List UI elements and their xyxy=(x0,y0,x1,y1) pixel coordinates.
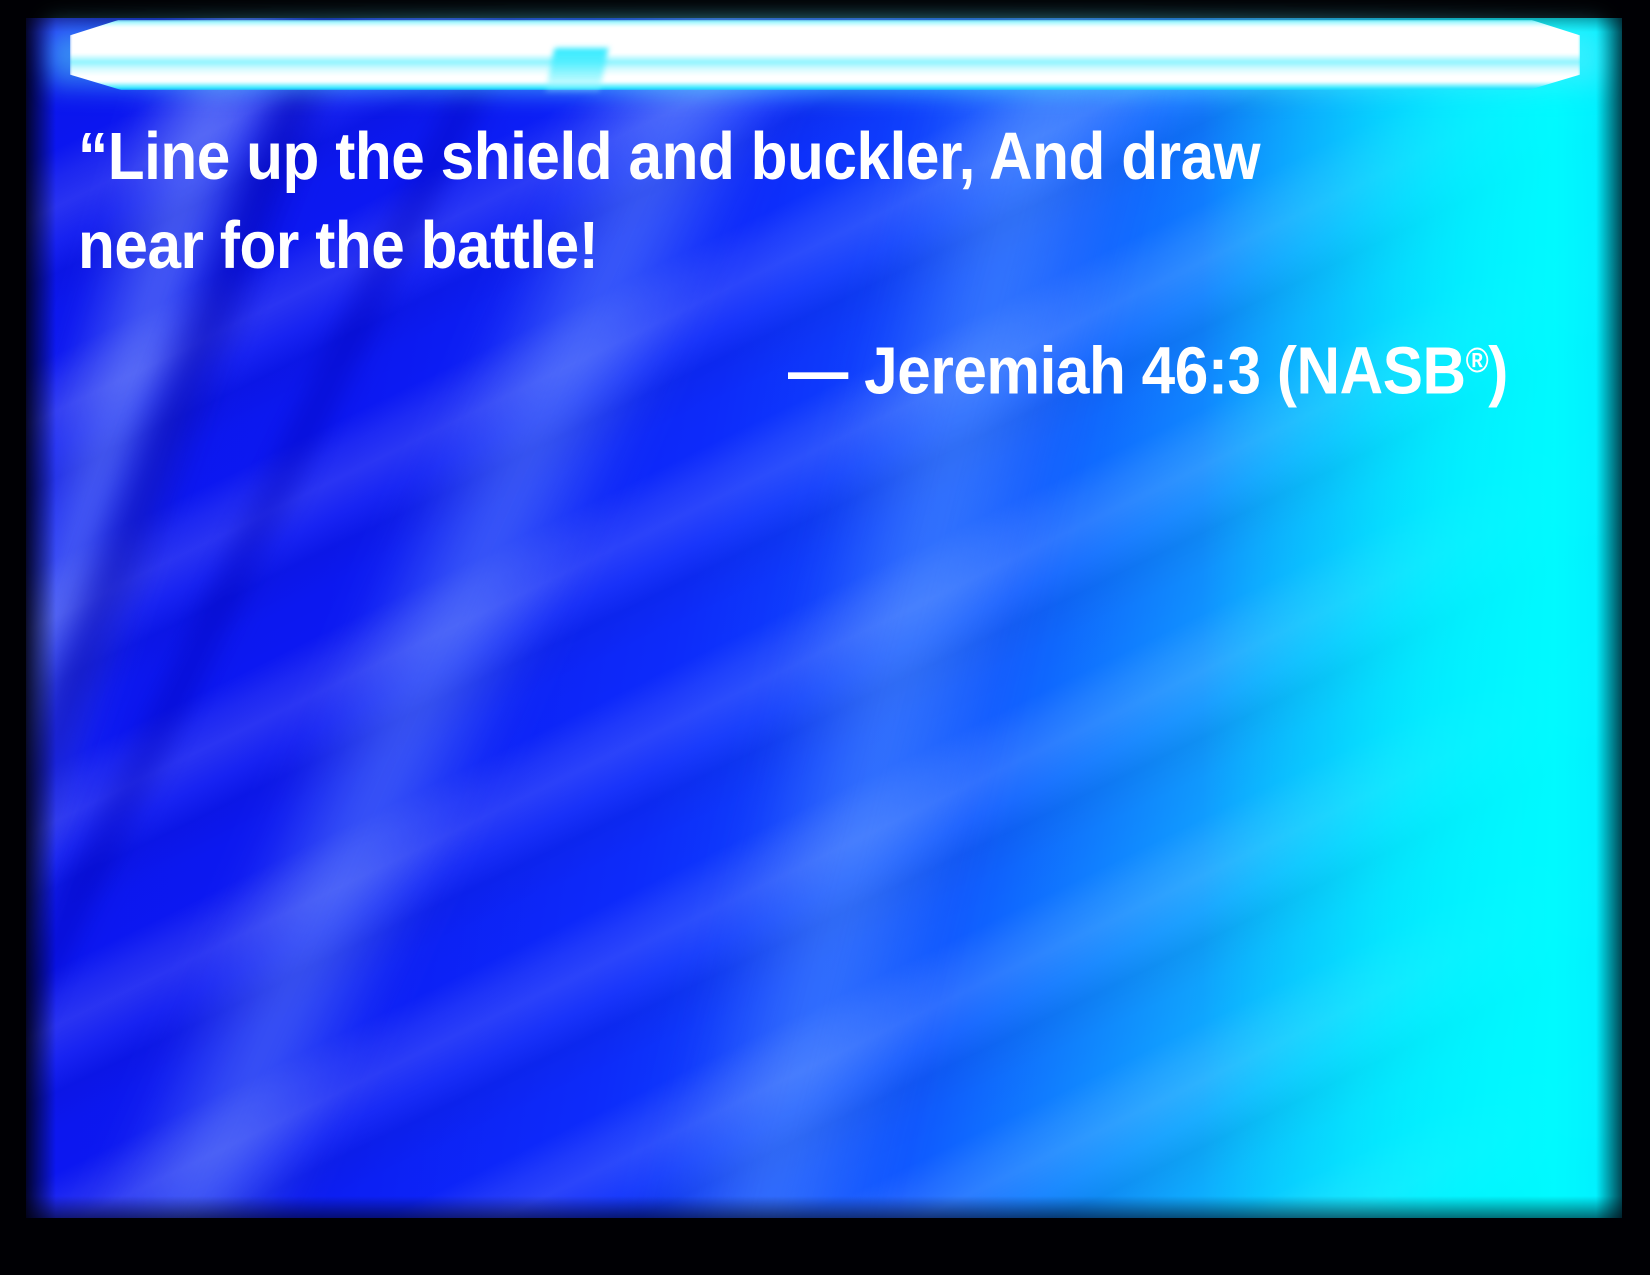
registered-trademark-icon: ® xyxy=(1466,341,1489,380)
attribution-em-dash: — xyxy=(788,334,864,409)
verse-attribution: — Jeremiah 46:3 (NASB®) xyxy=(78,318,1508,415)
attribution-open-paren: ( xyxy=(1261,334,1297,409)
scripture-slide: “Line up the shield and buckler, And dra… xyxy=(0,0,1650,1275)
verse-attribution-inner: — Jeremiah 46:3 (NASB®) xyxy=(788,318,1508,415)
verse-line-1: “Line up the shield and buckler, And dra… xyxy=(78,112,1365,201)
glow-banner-notch xyxy=(546,48,609,92)
attribution-reference: Jeremiah 46:3 xyxy=(864,334,1260,409)
verse-line-2: near for the battle! xyxy=(78,201,1365,290)
verse-text-block: “Line up the shield and buckler, And dra… xyxy=(78,112,1508,415)
attribution-translation: NASB xyxy=(1297,334,1466,409)
glow-banner-bar xyxy=(70,20,1580,90)
top-glow-banner xyxy=(30,14,1620,98)
attribution-close-paren: ) xyxy=(1488,334,1508,409)
